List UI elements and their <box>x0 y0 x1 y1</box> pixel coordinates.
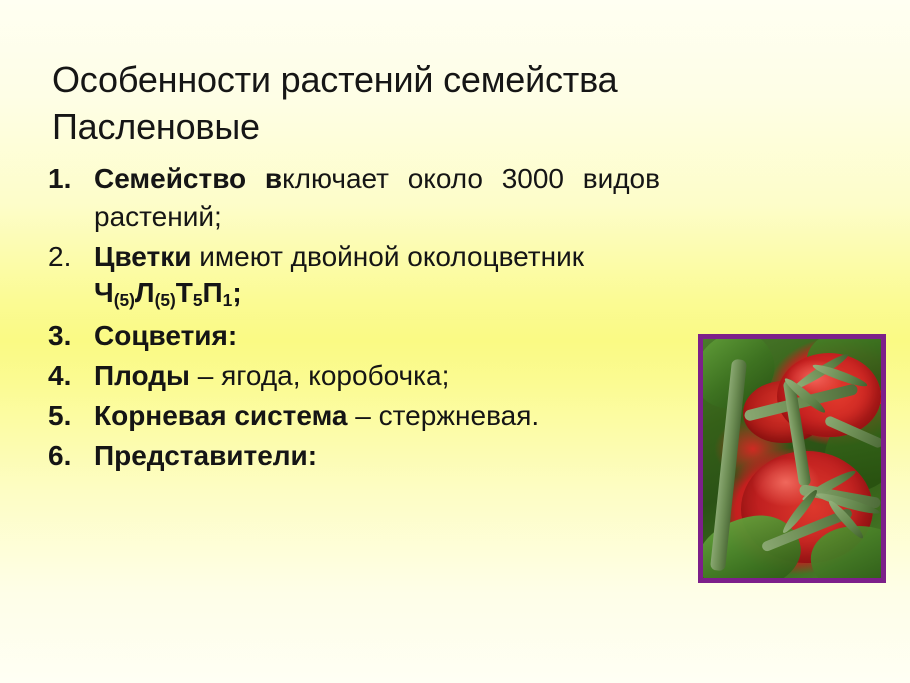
list-item-rest: имеют двойной околоцветник <box>191 241 584 272</box>
formula-calyx: Ч <box>94 277 114 308</box>
list-item-text: Представители: <box>94 437 660 475</box>
formula-stamens-sub: 5 <box>193 290 203 310</box>
list-item-emphasis: Плоды <box>94 360 190 391</box>
list-item: 5. Корневая система – стержневая. <box>48 397 660 435</box>
list-item: 4. Плоды – ягода, коробочка; <box>48 357 660 395</box>
formula-tail: ; <box>232 277 241 308</box>
list-item-text: Соцветия: <box>94 317 660 355</box>
formula-pistil: П <box>203 277 223 308</box>
list-item-text: Корневая система – стержневая. <box>94 397 660 435</box>
list-item: 3. Соцветия: <box>48 317 660 355</box>
formula-calyx-sub: (5) <box>114 290 135 310</box>
content-list: 1. Семейство включает около 3000 видов р… <box>48 160 660 477</box>
list-item-emphasis: Соцветия: <box>94 320 237 351</box>
list-item-marker: 5. <box>48 397 94 435</box>
tomato-photo <box>703 339 881 578</box>
list-item-emphasis: Корневая система <box>94 400 348 431</box>
flower-formula: Ч(5)Л(5)Т5П1; <box>94 274 660 315</box>
page-title: Особенности растений семейства Пасленовы… <box>52 56 752 150</box>
formula-stamens: Т <box>176 277 193 308</box>
slide-canvas: Особенности растений семейства Пасленовы… <box>0 0 910 683</box>
list-item-marker: 6. <box>48 437 94 475</box>
list-item-rest: – ягода, коробочка; <box>190 360 449 391</box>
list-item-text: Цветки имеют двойной околоцветник Ч(5)Л(… <box>94 238 660 315</box>
tomato-image-frame <box>698 334 886 583</box>
formula-corolla: Л <box>135 277 155 308</box>
list-item-marker: 3. <box>48 317 94 355</box>
list-item: 6. Представители: <box>48 437 660 475</box>
list-item-marker: 1. <box>48 160 94 198</box>
list-item-text: Плоды – ягода, коробочка; <box>94 357 660 395</box>
list-item-emphasis: Семейство в <box>94 163 282 194</box>
list-item-emphasis: Представители: <box>94 440 317 471</box>
list-item-marker: 4. <box>48 357 94 395</box>
list-item-text: Семейство включает около 3000 видов раст… <box>94 160 660 236</box>
list-item: 1. Семейство включает около 3000 видов р… <box>48 160 660 236</box>
list-item-rest: – стержневая. <box>348 400 540 431</box>
formula-pistil-sub: 1 <box>223 290 233 310</box>
formula-corolla-sub: (5) <box>155 290 176 310</box>
list-item: 2. Цветки имеют двойной околоцветник Ч(5… <box>48 238 660 315</box>
list-item-emphasis: Цветки <box>94 241 191 272</box>
list-item-marker: 2. <box>48 238 94 276</box>
